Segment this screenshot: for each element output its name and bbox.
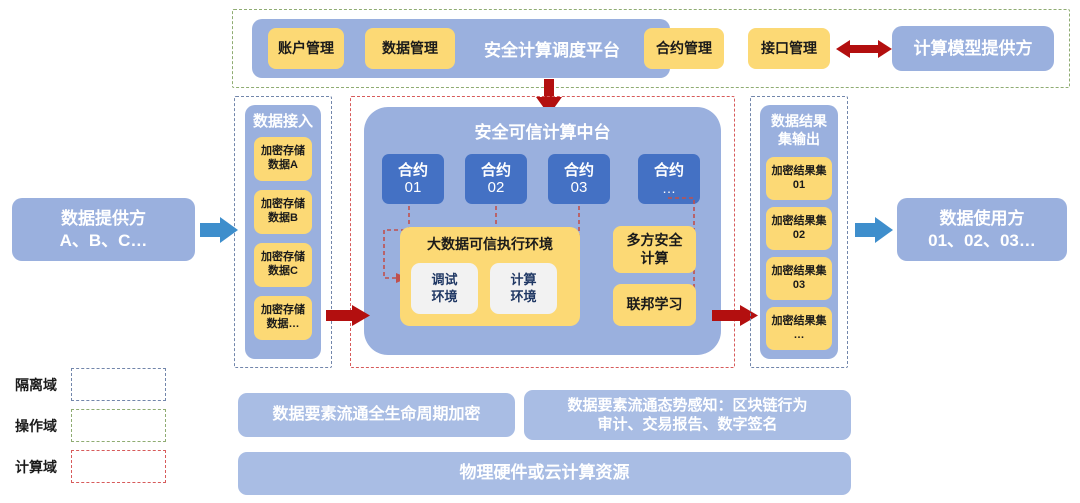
encrypted-storage-c-label: 加密存储 数据C: [261, 251, 305, 279]
legend-item-isolation-domain: 隔离域: [15, 368, 166, 401]
encrypted-storage-a-label: 加密存储 数据A: [261, 145, 305, 173]
module-data-management[interactable]: 数据管理: [365, 28, 455, 69]
mpc-engine[interactable]: 多方安全 计算: [613, 226, 696, 273]
encrypted-storage-more-label: 加密存储 数据…: [261, 304, 305, 332]
data-consumer-box: 数据使用方 01、02、03…: [897, 198, 1067, 261]
federated-learning-engine[interactable]: 联邦学习: [613, 284, 696, 326]
data-access-title: 数据接入: [253, 113, 313, 132]
hardware-bar-label: 物理硬件或云计算资源: [460, 462, 630, 484]
tee-title: 大数据可信执行环境: [400, 233, 580, 255]
legend-item-operation-domain: 操作域: [15, 409, 166, 442]
arrow-access-to-center: [326, 303, 370, 329]
encryption-bar-label: 数据要素流通全生命周期加密: [272, 405, 480, 426]
hardware-bar: 物理硬件或云计算资源: [238, 452, 851, 495]
module-interface-management-label: 接口管理: [761, 40, 817, 58]
scheduling-platform-title-label: 安全计算调度平台: [484, 36, 620, 61]
legend-compute-domain-swatch: [71, 450, 166, 483]
mpc-engine-label: 多方安全 计算: [627, 232, 683, 267]
encrypted-result-03[interactable]: 加密结果集 03: [766, 257, 832, 300]
scheduling-platform-title: 安全计算调度平台: [462, 28, 642, 69]
data-consumer-label: 数据使用方 01、02、03…: [928, 208, 1036, 251]
encrypted-storage-more[interactable]: 加密存储 数据…: [254, 296, 312, 340]
encrypted-result-more[interactable]: 加密结果集 …: [766, 307, 832, 350]
model-provider-label: 计算模型提供方: [914, 38, 1033, 59]
module-contract-management[interactable]: 合约管理: [644, 28, 724, 69]
legend-operation-domain-swatch: [71, 409, 166, 442]
arrow-provider-to-access: [200, 214, 238, 246]
federated-learning-engine-label: 联邦学习: [627, 296, 683, 314]
encrypted-storage-a[interactable]: 加密存储 数据A: [254, 137, 312, 181]
awareness-bar: 数据要素流通态势感知：区块链行为 审计、交易报告、数字签名: [524, 390, 851, 440]
encrypted-result-03-label: 加密结果集 03: [772, 265, 827, 293]
encrypted-result-02-label: 加密结果集 02: [772, 215, 827, 243]
legend-item-compute-domain: 计算域: [15, 450, 166, 483]
legend-isolation-domain-label: 隔离域: [15, 375, 57, 395]
legend-operation-domain-label: 操作域: [15, 416, 57, 436]
encrypted-result-02[interactable]: 加密结果集 02: [766, 207, 832, 250]
compute-center-title-label: 安全可信计算中台: [475, 118, 611, 143]
module-account-management-label: 账户管理: [278, 40, 334, 58]
compute-center-title: 安全可信计算中台: [364, 117, 721, 143]
encrypted-result-01[interactable]: 加密结果集 01: [766, 157, 832, 200]
arrow-results-to-consumer: [855, 214, 893, 246]
debug-environment-label: 调试 环境: [431, 272, 457, 305]
tee-title-label: 大数据可信执行环境: [427, 234, 553, 254]
awareness-bar-label: 数据要素流通态势感知：区块链行为 审计、交易报告、数字签名: [567, 396, 807, 435]
architecture-diagram: 账户管理 数据管理 安全计算调度平台 合约管理 接口管理 计算模型提供方 数据接…: [0, 0, 1080, 503]
encrypted-storage-b-label: 加密存储 数据B: [261, 198, 305, 226]
result-output-title: 数据结果 集输出: [771, 112, 827, 148]
model-provider-box: 计算模型提供方: [892, 26, 1054, 71]
legend-isolation-domain-swatch: [71, 368, 166, 401]
module-interface-management[interactable]: 接口管理: [748, 28, 830, 69]
encryption-bar: 数据要素流通全生命周期加密: [238, 393, 515, 437]
module-contract-management-label: 合约管理: [656, 40, 712, 58]
debug-environment[interactable]: 调试 环境: [411, 263, 478, 314]
compute-environment-label: 计算 环境: [510, 272, 536, 305]
data-provider-box: 数据提供方 A、B、C…: [12, 198, 195, 261]
encrypted-storage-b[interactable]: 加密存储 数据B: [254, 190, 312, 234]
module-data-management-label: 数据管理: [382, 40, 438, 58]
bidirectional-arrow-platform-model-provider: [836, 36, 892, 62]
compute-environment[interactable]: 计算 环境: [490, 263, 557, 314]
encrypted-result-more-label: 加密结果集 …: [772, 315, 827, 343]
encrypted-result-01-label: 加密结果集 01: [772, 165, 827, 193]
data-provider-label: 数据提供方 A、B、C…: [60, 208, 148, 251]
module-account-management[interactable]: 账户管理: [268, 28, 344, 69]
legend-compute-domain-label: 计算域: [15, 457, 57, 477]
encrypted-storage-c[interactable]: 加密存储 数据C: [254, 243, 312, 287]
